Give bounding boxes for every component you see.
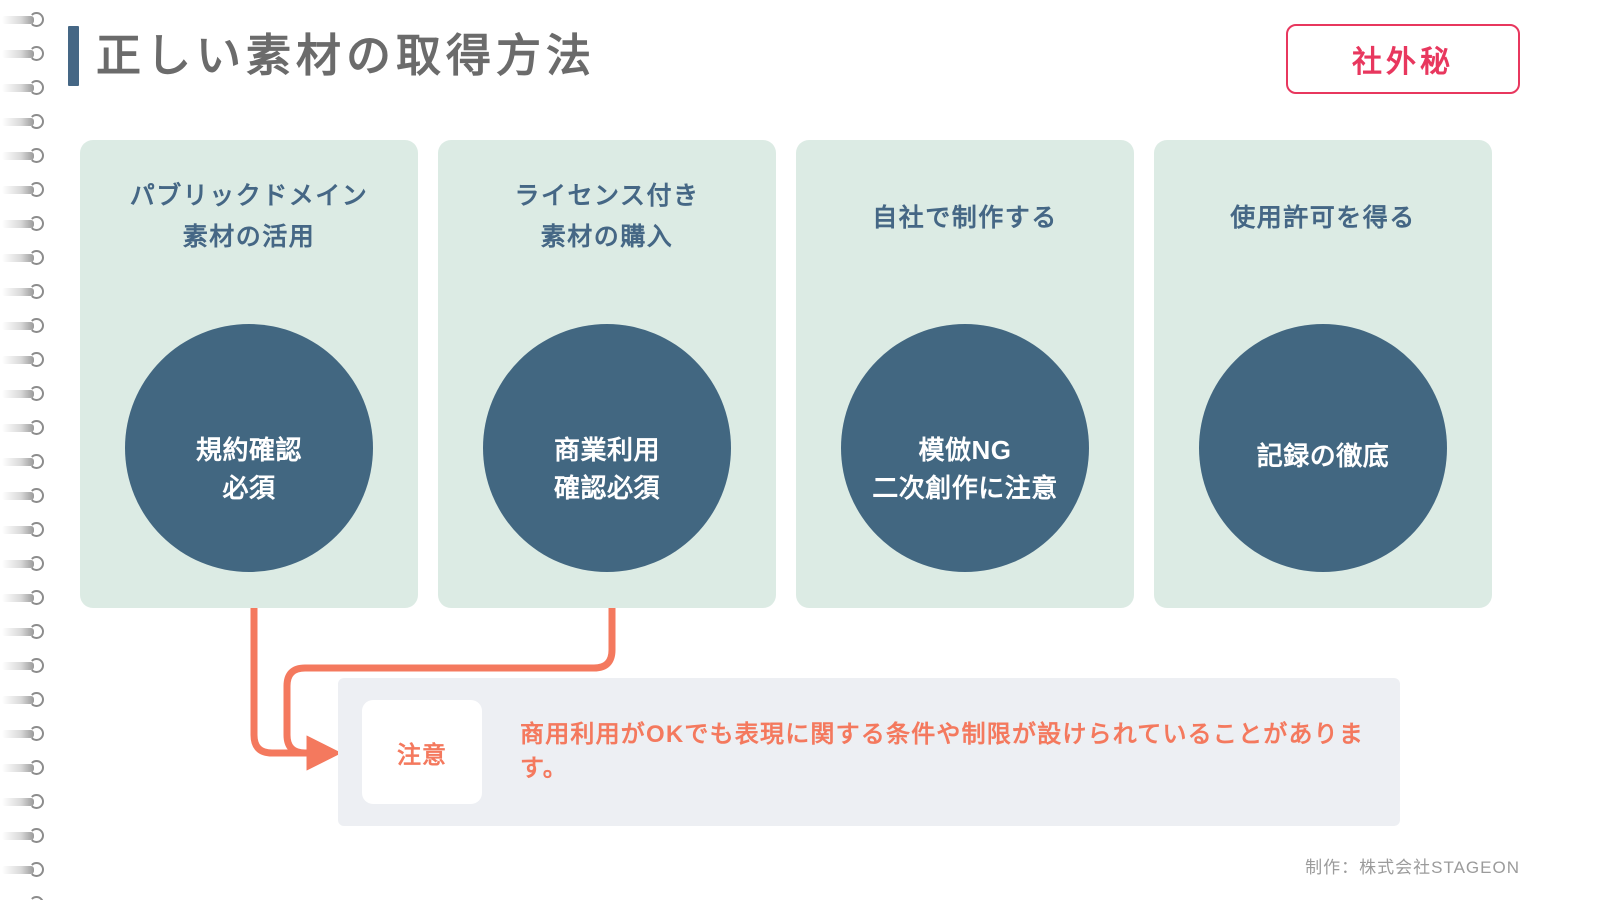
- page-title: 正しい素材の取得方法: [96, 23, 596, 89]
- note-chip-label: 注意: [397, 735, 447, 770]
- title-accent-bar: [68, 26, 79, 86]
- binding-ring-hook: [29, 488, 44, 503]
- card-header: 使用許可を得る: [1154, 198, 1492, 239]
- binding-ring-icon: [2, 454, 44, 469]
- binding-ring-icon: [2, 420, 44, 435]
- binding-ring-icon: [2, 386, 44, 401]
- binding-ring-hook: [29, 114, 44, 129]
- binding-ring-hook: [29, 624, 44, 639]
- binding-ring-icon: [2, 216, 44, 231]
- circle-label-line-1: 記録の徹底: [1257, 437, 1390, 475]
- binding-ring-icon: [2, 590, 44, 605]
- circle-label-line-1: 規約確認: [196, 431, 302, 469]
- slide-canvas: 正しい素材の取得方法 社外秘 パブリックドメイン 素材の活用 規約確認 必須 ラ…: [0, 0, 1600, 900]
- card-permission[interactable]: 使用許可を得る 記録の徹底: [1154, 140, 1492, 608]
- binding-ring-hook: [29, 216, 44, 231]
- binding-ring-hook: [29, 148, 44, 163]
- binding-ring-icon: [2, 828, 44, 843]
- binding-ring-icon: [2, 352, 44, 367]
- card-header-line-1: 使用許可を得る: [1164, 198, 1482, 239]
- circle-label: 商業利用 確認必須: [554, 431, 660, 507]
- confidential-badge: 社外秘: [1286, 24, 1520, 94]
- binding-ring-icon: [2, 896, 44, 900]
- card-header-line-2: 素材の購入: [448, 217, 766, 258]
- binding-ring-hook: [29, 896, 44, 900]
- binding-ring-hook: [29, 590, 44, 605]
- card-header-line-2: 素材の活用: [90, 217, 408, 258]
- note-chip: 注意: [362, 700, 482, 804]
- card-header: パブリックドメイン 素材の活用: [80, 176, 418, 258]
- binding-ring-hook: [29, 522, 44, 537]
- binding-ring-icon: [2, 284, 44, 299]
- note-text: 商用利用がOKでも表現に関する条件や制限が設けられていることがあります。: [520, 718, 1400, 786]
- binding-ring-hook: [29, 692, 44, 707]
- circle-label: 規約確認 必須: [196, 431, 302, 507]
- binding-ring-hook: [29, 318, 44, 333]
- card-header-line-1: 自社で制作する: [806, 198, 1124, 239]
- circle-label: 記録の徹底: [1257, 437, 1390, 475]
- circle-label: 模倣NG 二次創作に注意: [872, 431, 1058, 507]
- card-in-house[interactable]: 自社で制作する 模倣NG 二次創作に注意: [796, 140, 1134, 608]
- binding-ring-icon: [2, 760, 44, 775]
- binding-ring-icon: [2, 624, 44, 639]
- binding-ring-hook: [29, 658, 44, 673]
- binding-ring-icon: [2, 658, 44, 673]
- binding-ring-hook: [29, 556, 44, 571]
- binding-ring-icon: [2, 318, 44, 333]
- binding-ring-icon: [2, 556, 44, 571]
- binding-ring-hook: [29, 794, 44, 809]
- binding-ring-hook: [29, 12, 44, 27]
- binding-ring-hook: [29, 352, 44, 367]
- binding-ring-icon: [2, 862, 44, 877]
- circle-label-line-2: 必須: [196, 469, 302, 507]
- card-circle: 記録の徹底: [1199, 324, 1447, 572]
- binding-ring-hook: [29, 46, 44, 61]
- binding-ring-hook: [29, 386, 44, 401]
- note-box: 注意 商用利用がOKでも表現に関する条件や制限が設けられていることがあります。: [338, 678, 1400, 826]
- spiral-binding: [0, 0, 52, 900]
- binding-ring-hook: [29, 420, 44, 435]
- binding-ring-icon: [2, 794, 44, 809]
- binding-ring-icon: [2, 46, 44, 61]
- binding-ring-hook: [29, 862, 44, 877]
- binding-ring-icon: [2, 250, 44, 265]
- binding-ring-hook: [29, 182, 44, 197]
- card-circle: 商業利用 確認必須: [483, 324, 731, 572]
- confidential-badge-label: 社外秘: [1352, 37, 1454, 81]
- card-header: 自社で制作する: [796, 198, 1134, 239]
- binding-ring-hook: [29, 828, 44, 843]
- circle-label-line-1: 模倣NG: [872, 431, 1058, 469]
- card-public-domain[interactable]: パブリックドメイン 素材の活用 規約確認 必須: [80, 140, 418, 608]
- connector-card1-to-note: [254, 608, 322, 753]
- card-circle: 模倣NG 二次創作に注意: [841, 324, 1089, 572]
- circle-label-line-2: 確認必須: [554, 469, 660, 507]
- card-circle: 規約確認 必須: [125, 324, 373, 572]
- binding-ring-icon: [2, 12, 44, 27]
- circle-label-line-2: 二次創作に注意: [872, 469, 1058, 507]
- binding-ring-icon: [2, 726, 44, 741]
- circle-label-line-1: 商業利用: [554, 431, 660, 469]
- binding-ring-icon: [2, 522, 44, 537]
- binding-ring-hook: [29, 760, 44, 775]
- binding-ring-icon: [2, 114, 44, 129]
- footer-credit: 制作：株式会社STAGEON: [1305, 853, 1520, 878]
- card-header: ライセンス付き 素材の購入: [438, 176, 776, 258]
- card-licensed-purchase[interactable]: ライセンス付き 素材の購入 商業利用 確認必須: [438, 140, 776, 608]
- binding-ring-icon: [2, 488, 44, 503]
- binding-ring-hook: [29, 454, 44, 469]
- binding-ring-hook: [29, 284, 44, 299]
- binding-ring-hook: [29, 250, 44, 265]
- card-header-line-1: ライセンス付き: [448, 176, 766, 217]
- binding-ring-icon: [2, 148, 44, 163]
- binding-ring-hook: [29, 726, 44, 741]
- binding-ring-icon: [2, 182, 44, 197]
- binding-ring-icon: [2, 692, 44, 707]
- binding-ring-icon: [2, 80, 44, 95]
- card-header-line-1: パブリックドメイン: [90, 176, 408, 217]
- binding-ring-hook: [29, 80, 44, 95]
